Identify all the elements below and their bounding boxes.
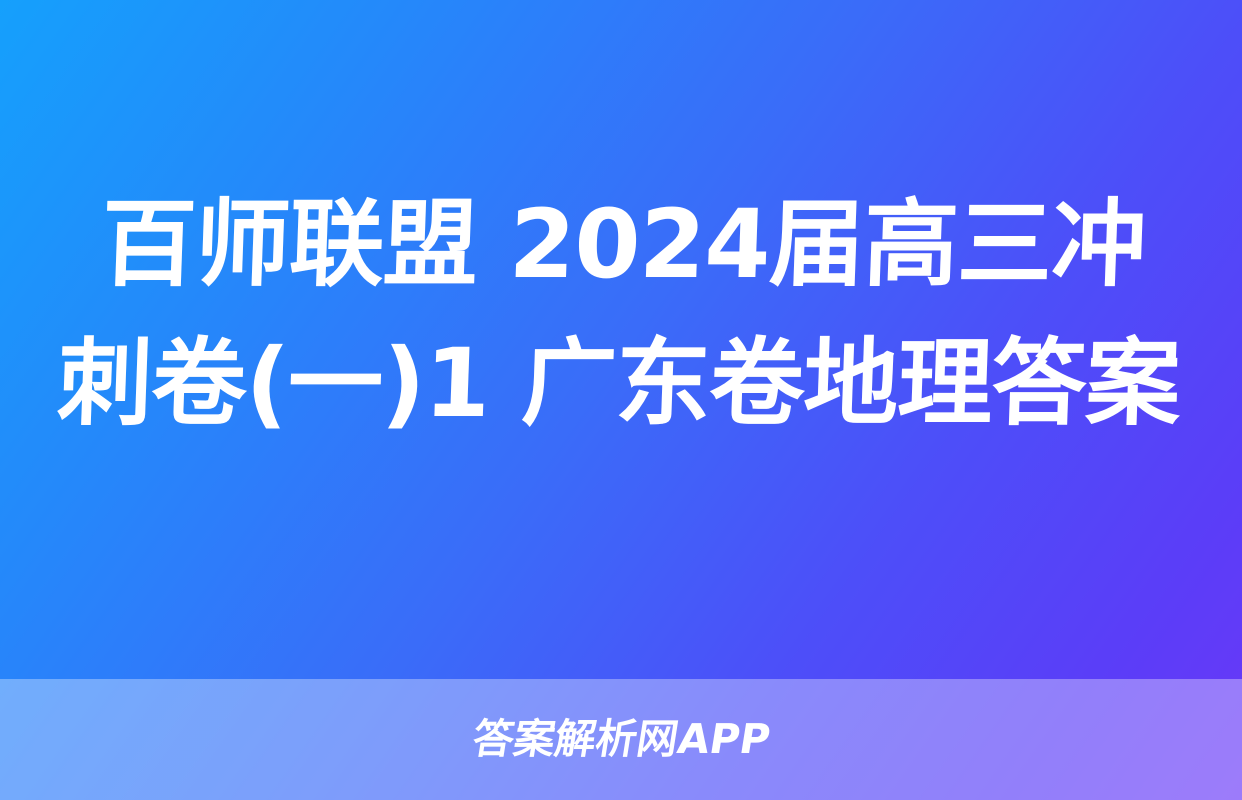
title-block: 百师联盟 2024届高三冲刺卷(一)1 广东卷地理答案 [0, 176, 1242, 454]
page-title: 百师联盟 2024届高三冲刺卷(一)1 广东卷地理答案 [55, 176, 1187, 454]
footer-watermark-band: 答案解析网APP [0, 679, 1242, 800]
app-watermark-label: 答案解析网APP [469, 719, 772, 760]
poster-card: 百师联盟 2024届高三冲刺卷(一)1 广东卷地理答案 答案解析网APP [0, 0, 1242, 800]
